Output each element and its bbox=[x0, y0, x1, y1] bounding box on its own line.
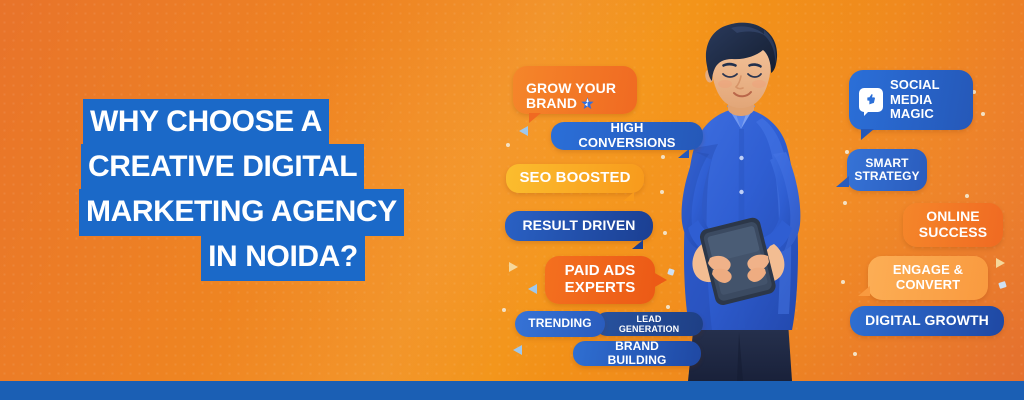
speech-tail bbox=[529, 113, 541, 123]
pill-label-trending: TRENDING bbox=[528, 317, 591, 330]
pill-high-conversions[interactable]: HIGH CONVERSIONS bbox=[551, 122, 703, 150]
star-rocket-icon bbox=[580, 96, 595, 115]
headline-line-1: WHY CHOOSE A bbox=[88, 104, 468, 141]
pill-label-social-media-magic: SOCIAL MEDIA MAGIC bbox=[890, 78, 940, 122]
confetti-triangle bbox=[528, 284, 537, 294]
pill-engage-convert[interactable]: ENGAGE & CONVERT bbox=[868, 256, 988, 300]
confetti-dot bbox=[965, 194, 969, 198]
confetti-dot bbox=[506, 143, 510, 147]
headline-line-3: MARKETING AGENCY bbox=[84, 194, 468, 231]
pill-label-result-driven: RESULT DRIVEN bbox=[522, 218, 635, 234]
pill-digital-growth[interactable]: DIGITAL GROWTH bbox=[850, 306, 1004, 336]
headline-line-2: CREATIVE DIGITAL bbox=[86, 149, 468, 186]
bottom-accent-bar bbox=[0, 381, 1024, 400]
speech-tail bbox=[861, 129, 874, 140]
pill-label-engage-convert: ENGAGE & CONVERT bbox=[893, 263, 963, 292]
confetti-dot bbox=[981, 112, 985, 116]
pill-label-smart-strategy: SMART STRATEGY bbox=[854, 157, 919, 184]
pill-lead-generation[interactable]: LEAD GENERATION bbox=[595, 312, 703, 336]
confetti-triangle bbox=[513, 345, 522, 355]
pill-label-online-success: ONLINE SUCCESS bbox=[919, 209, 987, 240]
pill-brand-building[interactable]: BRAND BUILDING bbox=[573, 341, 701, 366]
speech-tail bbox=[858, 286, 870, 296]
pill-label-lead-generation: LEAD GENERATION bbox=[608, 314, 690, 334]
pill-label-seo-boosted: SEO BOOSTED bbox=[519, 170, 630, 187]
speech-tail bbox=[836, 176, 849, 187]
pill-online-success[interactable]: ONLINE SUCCESS bbox=[903, 203, 1003, 247]
speech-tail bbox=[632, 240, 643, 249]
pill-label-paid-ads-experts: PAID ADS EXPERTS bbox=[565, 263, 636, 297]
confetti-triangle bbox=[519, 126, 528, 136]
headline: WHY CHOOSE A CREATIVE DIGITAL MARKETING … bbox=[88, 104, 468, 276]
pill-trending[interactable]: TRENDING bbox=[515, 311, 605, 337]
confetti-triangle bbox=[509, 262, 518, 272]
pill-label-brand-building: BRAND BUILDING bbox=[586, 340, 688, 367]
pill-smart-strategy[interactable]: SMART STRATEGY bbox=[847, 149, 927, 191]
marketing-banner: WHY CHOOSE A CREATIVE DIGITAL MARKETING … bbox=[0, 0, 1024, 400]
pill-label-high-conversions: HIGH CONVERSIONS bbox=[564, 121, 690, 150]
pill-label-grow-your-brand: GROW YOUR BRAND bbox=[526, 80, 616, 112]
speech-tail bbox=[653, 272, 667, 288]
pill-result-driven[interactable]: RESULT DRIVEN bbox=[505, 211, 653, 241]
pill-label-digital-growth: DIGITAL GROWTH bbox=[865, 313, 989, 329]
confetti-dot bbox=[502, 308, 506, 312]
speech-tail bbox=[678, 149, 689, 158]
pill-grow-your-brand[interactable]: GROW YOUR BRAND bbox=[513, 66, 637, 114]
pill-seo-boosted[interactable]: SEO BOOSTED bbox=[506, 164, 644, 193]
pill-social-media-magic[interactable]: SOCIAL MEDIA MAGIC bbox=[849, 70, 973, 130]
speech-tail bbox=[623, 192, 634, 201]
pill-paid-ads-experts[interactable]: PAID ADS EXPERTS bbox=[545, 256, 655, 304]
confetti-triangle bbox=[996, 258, 1005, 268]
thumbs-up-chat-icon bbox=[859, 88, 883, 112]
headline-line-4: IN NOIDA? bbox=[98, 239, 468, 276]
